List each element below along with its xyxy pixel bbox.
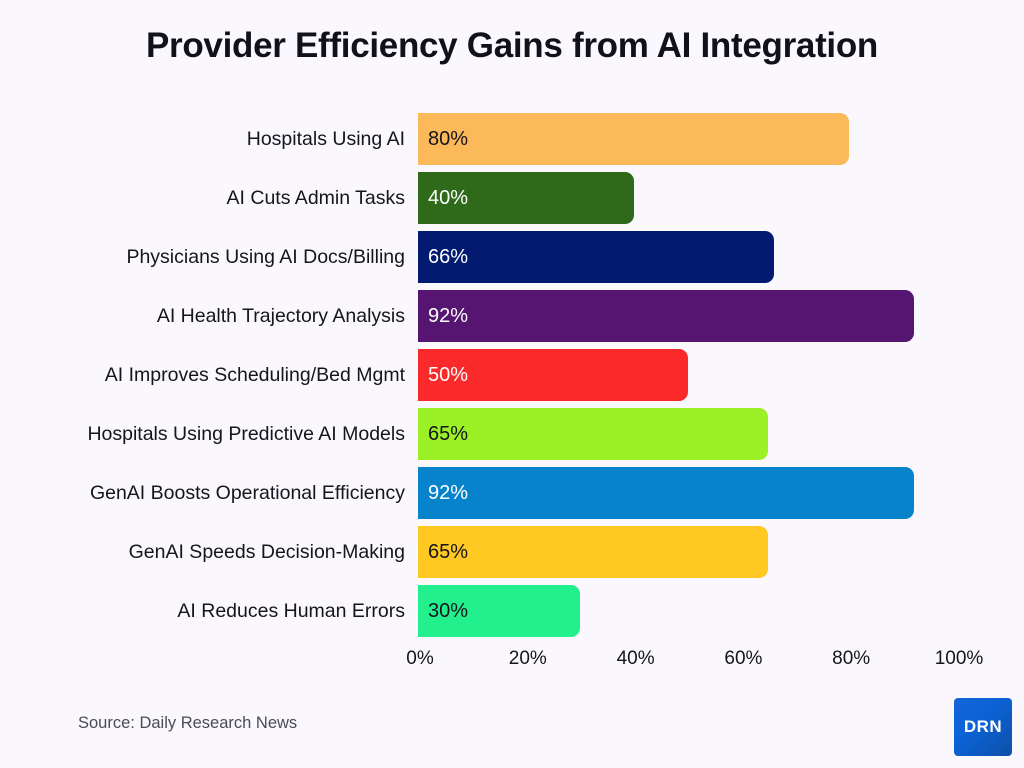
bar-value-label: 92% xyxy=(428,467,468,519)
bar-value-label: 65% xyxy=(428,408,468,460)
bar-row: Hospitals Using Predictive AI Models65% xyxy=(0,408,1024,460)
bar-value-label: 50% xyxy=(428,349,468,401)
bar-category-label: AI Reduces Human Errors xyxy=(177,585,405,637)
bar-row: AI Improves Scheduling/Bed Mgmt50% xyxy=(0,349,1024,401)
bar-value-label: 80% xyxy=(428,113,468,165)
bar-row: GenAI Boosts Operational Efficiency92% xyxy=(0,467,1024,519)
x-axis-tick-label: 0% xyxy=(406,648,433,670)
bar[interactable]: 65% xyxy=(418,526,768,578)
bar-chart-plot-area: Hospitals Using AI80%AI Cuts Admin Tasks… xyxy=(0,113,1024,643)
bar[interactable]: 30% xyxy=(418,585,580,637)
bar-category-label: AI Cuts Admin Tasks xyxy=(227,172,405,224)
bar-row: Hospitals Using AI80% xyxy=(0,113,1024,165)
bar-value-label: 65% xyxy=(428,526,468,578)
bar-category-label: Hospitals Using Predictive AI Models xyxy=(87,408,405,460)
bar-row: AI Reduces Human Errors30% xyxy=(0,585,1024,637)
x-axis-tick-label: 20% xyxy=(509,648,547,670)
bar-category-label: Hospitals Using AI xyxy=(247,113,405,165)
bar[interactable]: 92% xyxy=(418,467,914,519)
bar-row: GenAI Speeds Decision-Making65% xyxy=(0,526,1024,578)
x-axis-tick-label: 60% xyxy=(724,648,762,670)
bar-row: AI Cuts Admin Tasks40% xyxy=(0,172,1024,224)
bar-category-label: Physicians Using AI Docs/Billing xyxy=(126,231,405,283)
bar-value-label: 66% xyxy=(428,231,468,283)
logo-text: DRN xyxy=(964,717,1002,737)
bar-category-label: AI Health Trajectory Analysis xyxy=(157,290,405,342)
bar-category-label: GenAI Speeds Decision-Making xyxy=(129,526,405,578)
bar[interactable]: 40% xyxy=(418,172,634,224)
bar-value-label: 92% xyxy=(428,290,468,342)
bar[interactable]: 50% xyxy=(418,349,688,401)
bar[interactable]: 66% xyxy=(418,231,774,283)
drn-logo: DRN xyxy=(954,698,1012,756)
bar-category-label: GenAI Boosts Operational Efficiency xyxy=(90,467,405,519)
bar[interactable]: 92% xyxy=(418,290,914,342)
bar-row: Physicians Using AI Docs/Billing66% xyxy=(0,231,1024,283)
source-caption: Source: Daily Research News xyxy=(78,714,297,733)
bar[interactable]: 80% xyxy=(418,113,849,165)
bar[interactable]: 65% xyxy=(418,408,768,460)
x-axis-tick-label: 100% xyxy=(935,648,984,670)
bar-category-label: AI Improves Scheduling/Bed Mgmt xyxy=(105,349,405,401)
bar-value-label: 40% xyxy=(428,172,468,224)
page-title: Provider Efficiency Gains from AI Integr… xyxy=(0,26,1024,66)
x-axis-tick-label: 40% xyxy=(617,648,655,670)
x-axis-tick-label: 80% xyxy=(832,648,870,670)
bar-row: AI Health Trajectory Analysis92% xyxy=(0,290,1024,342)
x-axis: 0%20%40%60%80%100% xyxy=(0,648,1024,678)
bar-value-label: 30% xyxy=(428,585,468,637)
